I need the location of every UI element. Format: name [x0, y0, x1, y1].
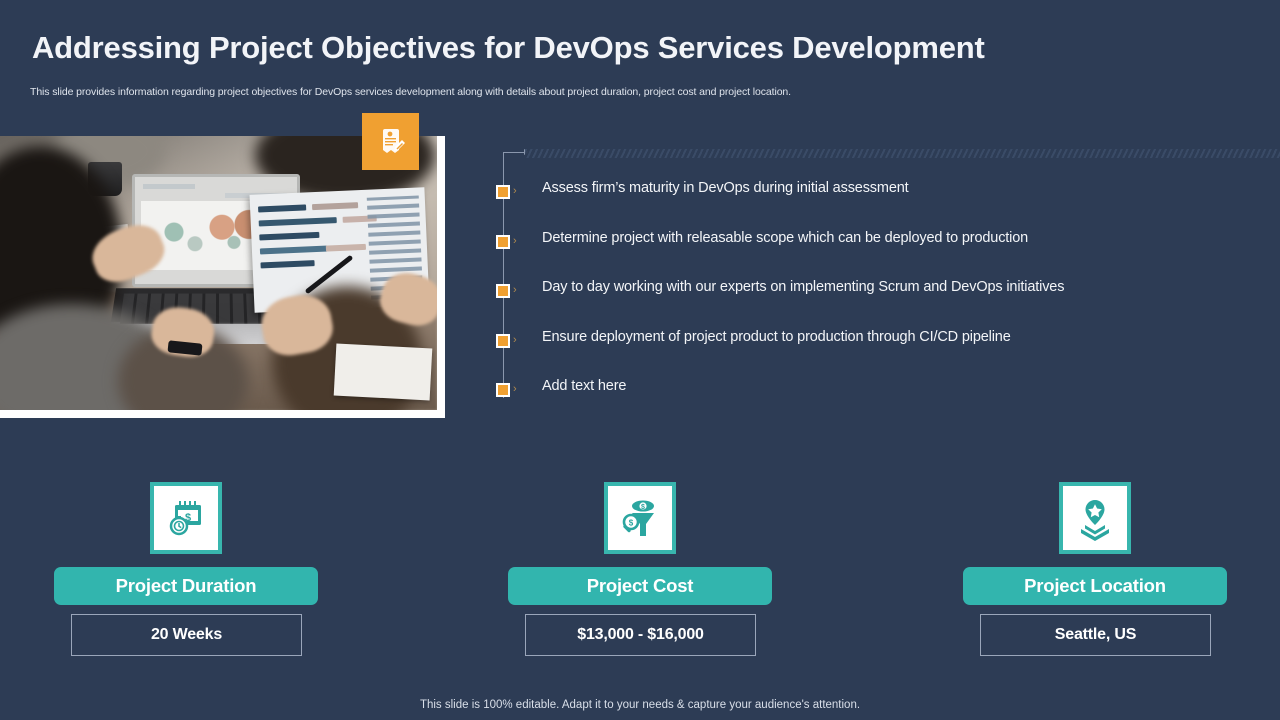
- card-title: Project Cost: [508, 567, 772, 605]
- photo-open-notebook: [334, 344, 433, 401]
- card-title: Project Duration: [54, 567, 318, 605]
- photo-report-bar: [326, 244, 366, 252]
- list-item[interactable]: › Add text here: [496, 376, 1280, 426]
- list-item-label: Day to day working with our experts on i…: [542, 279, 1064, 295]
- list-item[interactable]: › Determine project with releasable scop…: [496, 228, 1280, 278]
- chevron-right-icon: ›: [513, 283, 517, 297]
- orange-square-bullet-icon: [496, 334, 510, 348]
- photo-report-bar: [258, 204, 306, 212]
- meeting-photo: [0, 136, 437, 410]
- photo-report-bar: [260, 260, 314, 268]
- chevron-right-icon: ›: [513, 184, 517, 198]
- objectives-list: › Assess firm’s maturity in DevOps durin…: [496, 178, 1280, 426]
- footer-note: This slide is 100% editable. Adapt it to…: [0, 699, 1280, 711]
- chevron-right-icon: ›: [513, 382, 517, 396]
- orange-square-bullet-icon: [496, 185, 510, 199]
- list-item[interactable]: › Ensure deployment of project product t…: [496, 327, 1280, 377]
- card-title: Project Location: [963, 567, 1227, 605]
- map-pin-star-icon: [1059, 482, 1131, 554]
- card-value: $13,000 - $16,000: [525, 614, 756, 656]
- funnel-money-magnifier-icon: $ $: [604, 482, 676, 554]
- chevron-right-icon: ›: [513, 234, 517, 248]
- photo-laptop-heading: [143, 184, 195, 189]
- orange-square-bullet-icon: [496, 383, 510, 397]
- photo-frame: [0, 136, 445, 418]
- orange-square-bullet-icon: [496, 284, 510, 298]
- chevron-right-icon: ›: [513, 333, 517, 347]
- list-item-label: Assess firm’s maturity in DevOps during …: [542, 180, 909, 196]
- list-item-label: Add text here: [542, 378, 626, 394]
- svg-text:$: $: [641, 504, 645, 511]
- orange-square-bullet-icon: [496, 235, 510, 249]
- photo-report-bar: [312, 202, 358, 210]
- page-subtitle: This slide provides information regardin…: [30, 86, 1030, 98]
- list-item[interactable]: › Assess firm’s maturity in DevOps durin…: [496, 178, 1280, 228]
- calendar-clock-dollar-icon: $: [150, 482, 222, 554]
- card-value: 20 Weeks: [71, 614, 302, 656]
- svg-text:$: $: [629, 519, 634, 528]
- list-item-label: Ensure deployment of project product to …: [542, 329, 1011, 345]
- certificate-document-icon: [362, 113, 419, 170]
- photo-report-bar: [259, 232, 319, 241]
- card-value: Seattle, US: [980, 614, 1211, 656]
- hatched-divider: [525, 149, 1280, 158]
- page-title: Addressing Project Objectives for DevOps…: [32, 30, 1252, 66]
- list-item-label: Determine project with releasable scope …: [542, 230, 1028, 246]
- list-item[interactable]: › Day to day working with our experts on…: [496, 277, 1280, 327]
- photo-report-bar: [259, 217, 337, 226]
